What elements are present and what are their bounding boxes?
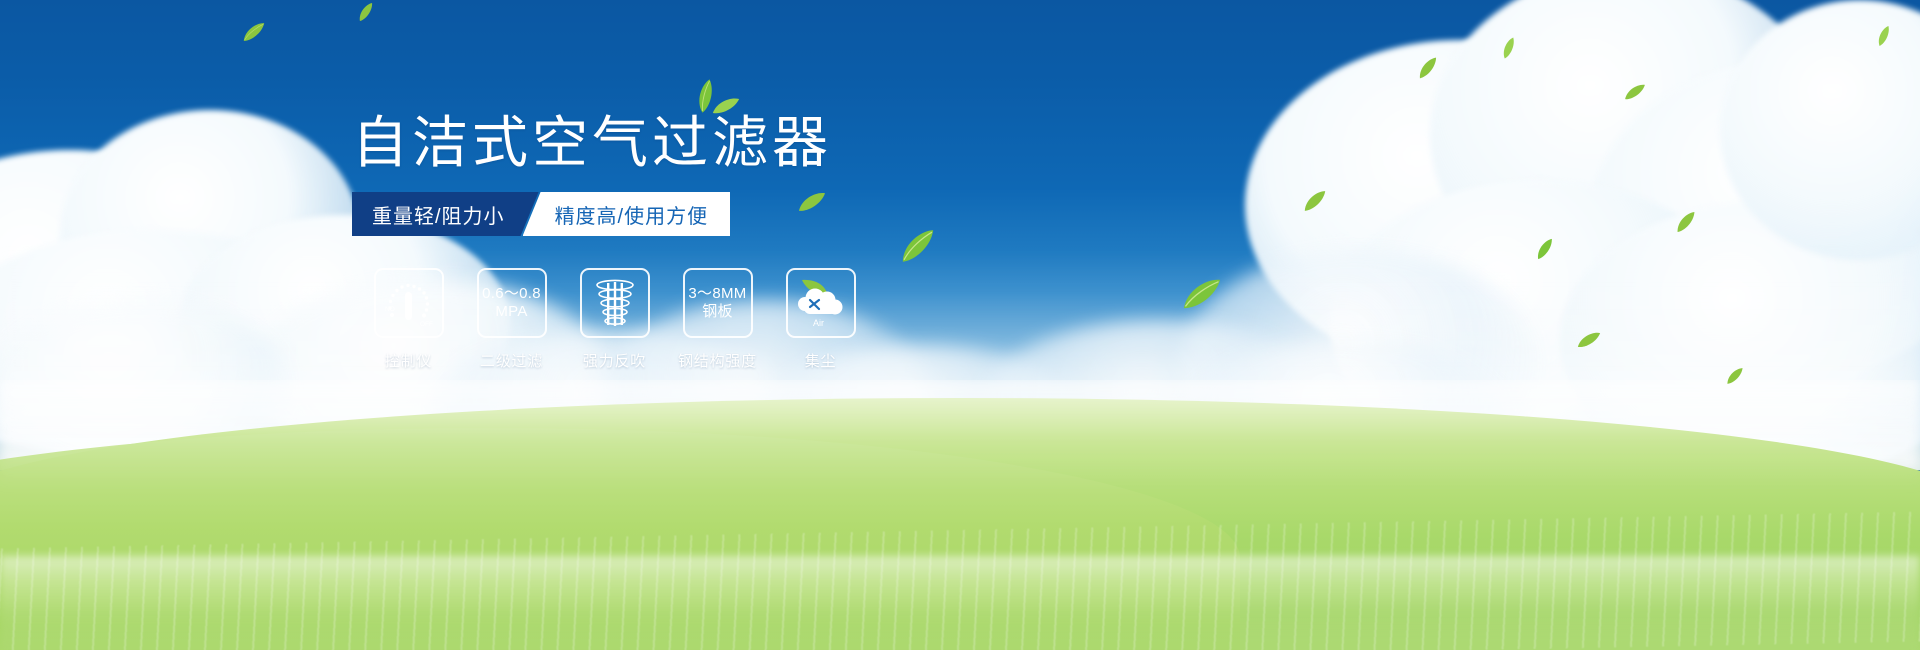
- feature-label: 控制仪: [385, 350, 432, 371]
- dial-on-label: NO: [385, 306, 395, 313]
- feature-item-backblow[interactable]: 强力反吹: [563, 268, 666, 371]
- tagline-primary: 重量轻/阻力小: [352, 192, 539, 236]
- feature-icon-box: NO OFF: [374, 268, 444, 338]
- feature-item-steel[interactable]: 3～8MM 钢板 钢结构强度: [666, 268, 769, 371]
- pressure-unit: MPA: [482, 303, 541, 321]
- tagline-secondary: 精度高/使用方便: [523, 192, 731, 236]
- feature-icon-box: 3～8MM 钢板: [683, 268, 753, 338]
- feature-item-dust[interactable]: Air 集尘: [769, 268, 872, 371]
- page-title: 自洁式空气过滤器: [352, 114, 832, 173]
- feature-icon-box: Air: [786, 268, 856, 338]
- steel-plate-text-icon: 3～8MM 钢板: [688, 285, 746, 320]
- feature-label: 钢结构强度: [678, 350, 757, 371]
- pressure-text-icon: 0.6～0.8 MPA: [482, 285, 541, 320]
- pressure-range: 0.6～0.8: [482, 285, 541, 303]
- air-label: Air: [813, 318, 824, 328]
- feature-item-filtration[interactable]: 0.6～0.8 MPA 二级过滤: [460, 268, 563, 371]
- dial-off-label: OFF: [420, 321, 433, 328]
- feature-list: NO OFF 控制仪 0.6～0.8 MPA 二级过滤: [357, 268, 872, 371]
- steel-thickness: 3～8MM: [688, 285, 746, 303]
- steel-material: 钢板: [688, 303, 746, 321]
- air-cloud-icon: Air: [792, 276, 850, 330]
- feature-icon-box: 0.6～0.8 MPA: [477, 268, 547, 338]
- feature-label: 二级过滤: [480, 350, 543, 371]
- product-hero-banner: 自洁式空气过滤器 重量轻/阻力小 精度高/使用方便: [0, 0, 1920, 650]
- feature-label: 强力反吹: [583, 350, 646, 371]
- feature-label: 集尘: [805, 350, 837, 371]
- banner-content: 自洁式空气过滤器 重量轻/阻力小 精度高/使用方便: [0, 0, 1920, 650]
- tagline-group: 重量轻/阻力小 精度高/使用方便: [352, 192, 730, 236]
- feature-icon-box: [580, 268, 650, 338]
- filter-cartridge-icon: [590, 277, 640, 329]
- feature-item-controller[interactable]: NO OFF 控制仪: [357, 268, 460, 371]
- dial-gauge-icon: NO OFF: [379, 275, 439, 331]
